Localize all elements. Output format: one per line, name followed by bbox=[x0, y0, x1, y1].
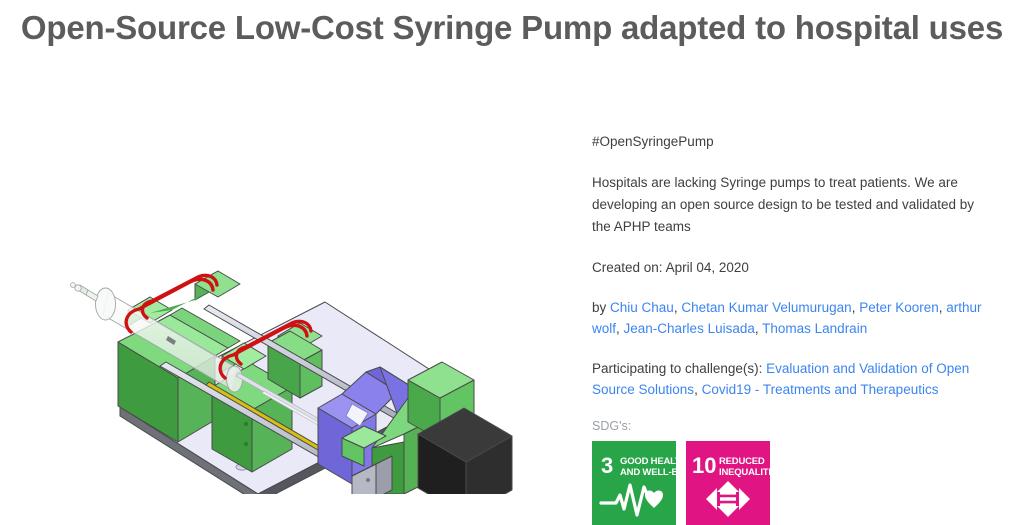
sdg-badge-3[interactable]: 3 GOOD HEALTH AND WELL-BEING bbox=[592, 441, 676, 525]
challenges-line: Participating to challenge(s): Evaluatio… bbox=[592, 358, 984, 400]
authors-label: by bbox=[592, 300, 610, 315]
project-description: Hospitals are lacking Syringe pumps to t… bbox=[592, 172, 996, 238]
syringe-pump-cad-render bbox=[0, 104, 580, 494]
challenge-sep-0: , bbox=[694, 382, 702, 397]
project-details: #OpenSyringePump Hospitals are lacking S… bbox=[592, 104, 1004, 494]
project-image-container bbox=[0, 104, 580, 494]
sdg-3-line1: GOOD HEALTH bbox=[620, 456, 676, 467]
sdg-label: SDG's: bbox=[592, 417, 1004, 435]
sdg-10-line1: REDUCED bbox=[719, 456, 765, 467]
challenge-link-1[interactable]: Covid19 - Treatments and Therapeutics bbox=[702, 382, 939, 397]
author-link-5[interactable]: Thomas Landrain bbox=[762, 321, 867, 336]
sdg-10-number: 10 bbox=[692, 453, 716, 478]
created-on-label: Created on: bbox=[592, 260, 666, 275]
created-on-line: Created on: April 04, 2020 bbox=[592, 258, 1004, 278]
challenges-label: Participating to challenge(s): bbox=[592, 361, 766, 376]
author-link-0[interactable]: Chiu Chau bbox=[610, 300, 674, 315]
author-link-4[interactable]: Jean-Charles Luisada bbox=[624, 321, 755, 336]
sdg-3-line2: AND WELL-BEING bbox=[620, 467, 676, 478]
project-hashtag: #OpenSyringePump bbox=[592, 132, 1004, 152]
author-link-1[interactable]: Chetan Kumar Velumurugan bbox=[681, 300, 851, 315]
sdg-badge-10[interactable]: 10 REDUCED INEQUALITIES bbox=[686, 441, 770, 525]
author-link-2[interactable]: Peter Kooren bbox=[859, 300, 939, 315]
page-title: Open-Source Low-Cost Syringe Pump adapte… bbox=[14, 6, 1010, 50]
project-page: Open-Source Low-Cost Syringe Pump adapte… bbox=[0, 0, 1024, 494]
author-sep-3: , bbox=[616, 321, 624, 336]
sdg-badge-row: 3 GOOD HEALTH AND WELL-BEING 10 REDUCED bbox=[592, 441, 1004, 525]
authors-line: by Chiu Chau, Chetan Kumar Velumurugan, … bbox=[592, 297, 990, 339]
sdg-10-line2: INEQUALITIES bbox=[719, 467, 770, 478]
created-on-date: April 04, 2020 bbox=[666, 260, 749, 275]
sdg-3-number: 3 bbox=[601, 453, 613, 478]
